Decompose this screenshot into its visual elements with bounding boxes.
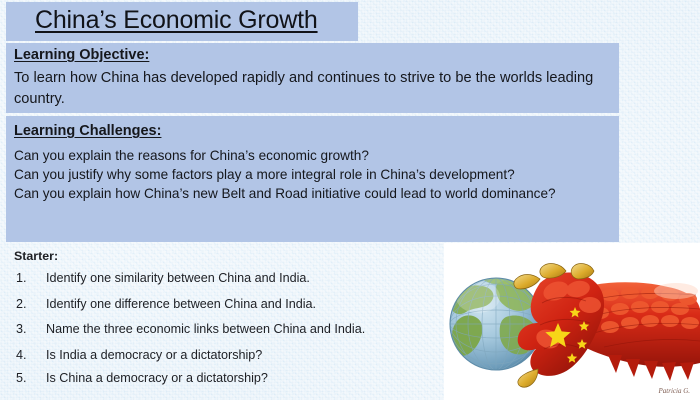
starter-list-item: 3. Name the three economic links between… [14, 322, 444, 340]
learning-objective-heading: Learning Objective: [14, 47, 149, 63]
starter-item-number: 5. [16, 371, 27, 385]
starter-list-item: 1. Identify one similarity between China… [14, 271, 444, 289]
artist-signature: Patricia G. [658, 387, 691, 395]
learning-objective-text: To learn how China has developed rapidly… [14, 68, 604, 110]
learning-challenge-item: Can you justify why some factors play a … [14, 165, 515, 184]
dragon-claw-globe-illustration: Patricia G. [444, 243, 700, 400]
starter-list-item: 2. Identify one difference between China… [14, 297, 444, 315]
starter-item-text: Identify one similarity between China an… [46, 271, 310, 285]
starter-item-number: 1. [16, 271, 27, 285]
learning-challenges-heading: Learning Challenges: [14, 123, 161, 139]
starter-list-item: 4. Is India a democracy or a dictatorshi… [14, 348, 444, 366]
starter-item-number: 2. [16, 297, 27, 311]
starter-item-number: 3. [16, 322, 27, 336]
starter-item-text: Name the three economic links between Ch… [46, 322, 365, 336]
starter-item-text: Is India a democracy or a dictatorship? [46, 348, 262, 362]
page-title: China’s Economic Growth [35, 4, 318, 37]
learning-challenge-item: Can you explain the reasons for China’s … [14, 146, 369, 165]
starter-item-number: 4. [16, 348, 27, 362]
starter-item-text: Identify one difference between China an… [46, 297, 316, 311]
starter-item-text: Is China a democracy or a dictatorship? [46, 371, 268, 385]
slide-canvas: China’s Economic Growth Learning Objecti… [0, 0, 700, 400]
learning-challenge-item: Can you explain how China’s new Belt and… [14, 184, 556, 203]
starter-heading: Starter: [14, 249, 58, 263]
starter-list-item: 5. Is China a democracy or a dictatorshi… [14, 371, 444, 389]
